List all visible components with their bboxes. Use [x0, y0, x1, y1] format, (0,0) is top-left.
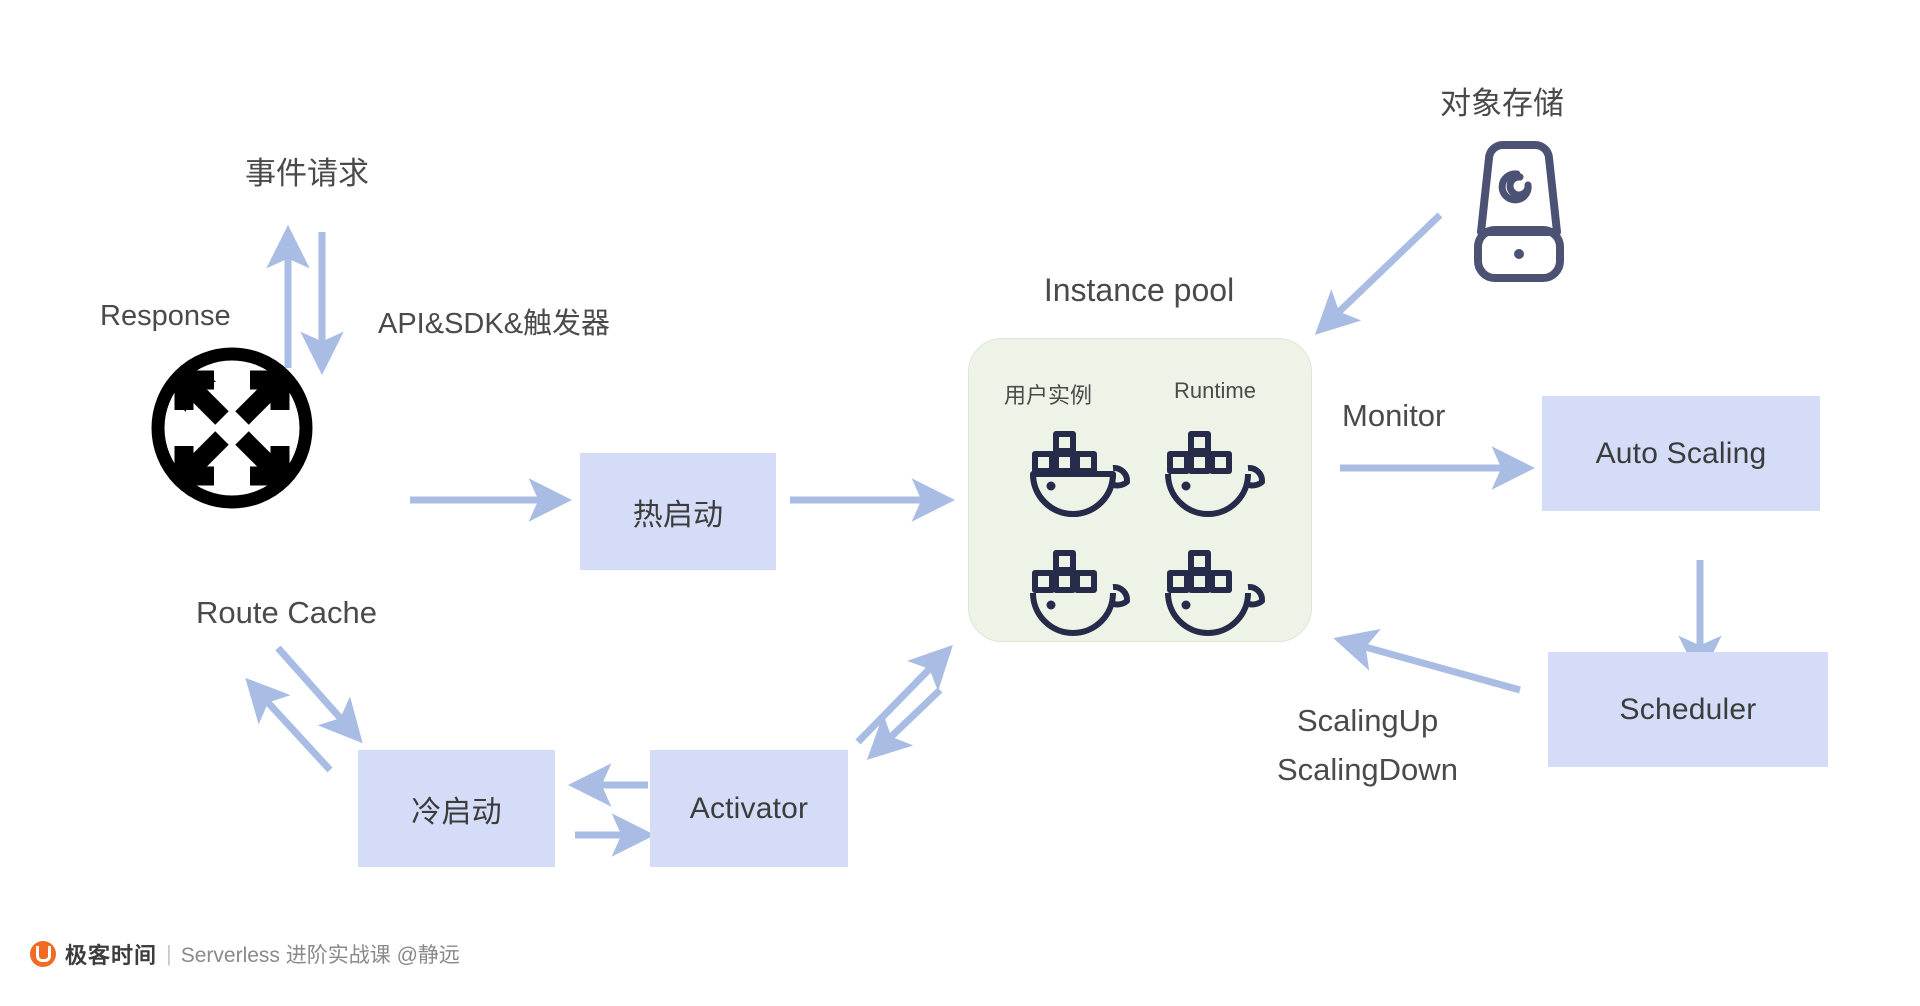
- geekbang-logo-icon: [30, 941, 56, 967]
- label-response: Response: [100, 300, 231, 333]
- node-auto-scaling[interactable]: Auto Scaling: [1542, 396, 1820, 511]
- arrow-coldstart-to-routecache: [250, 683, 330, 770]
- footer-brand: 极客时间: [65, 938, 157, 970]
- instance-pool-column-runtime: Runtime: [1140, 378, 1290, 404]
- label-route-cache: Route Cache: [196, 595, 377, 631]
- arrow-pool-to-activator: [872, 690, 940, 755]
- arrow-scheduler-to-pool: [1340, 640, 1520, 690]
- node-cold-start[interactable]: 冷启动: [358, 750, 555, 867]
- label-scaling-down: ScalingDown: [1277, 752, 1458, 788]
- label-event-request: 事件请求: [245, 148, 369, 193]
- label-scaling-up: ScalingUp: [1297, 703, 1438, 739]
- footer: 极客时间 | Serverless 进阶实战课 @静远: [30, 938, 460, 970]
- instance-pool-caption: Instance pool: [968, 272, 1310, 309]
- node-hot-start[interactable]: 热启动: [580, 453, 776, 570]
- footer-divider: |: [166, 941, 172, 967]
- label-api-sdk-trigger: API&SDK&触发器: [378, 300, 610, 342]
- diagram-canvas: Instance pool 用户实例 Runtime: [0, 0, 1920, 1006]
- node-scheduler[interactable]: Scheduler: [1548, 652, 1828, 767]
- node-activator[interactable]: Activator: [650, 750, 848, 867]
- arrow-routecache-to-coldstart: [278, 648, 358, 738]
- instance-pool-column-user: 用户实例: [968, 378, 1128, 410]
- footer-course: Serverless 进阶实战课 @静远: [181, 939, 460, 969]
- arrow-activator-to-pool: [858, 650, 948, 742]
- label-object-storage: 对象存储: [1440, 78, 1564, 123]
- label-monitor: Monitor: [1342, 398, 1445, 434]
- arrow-storage-to-pool: [1320, 215, 1440, 330]
